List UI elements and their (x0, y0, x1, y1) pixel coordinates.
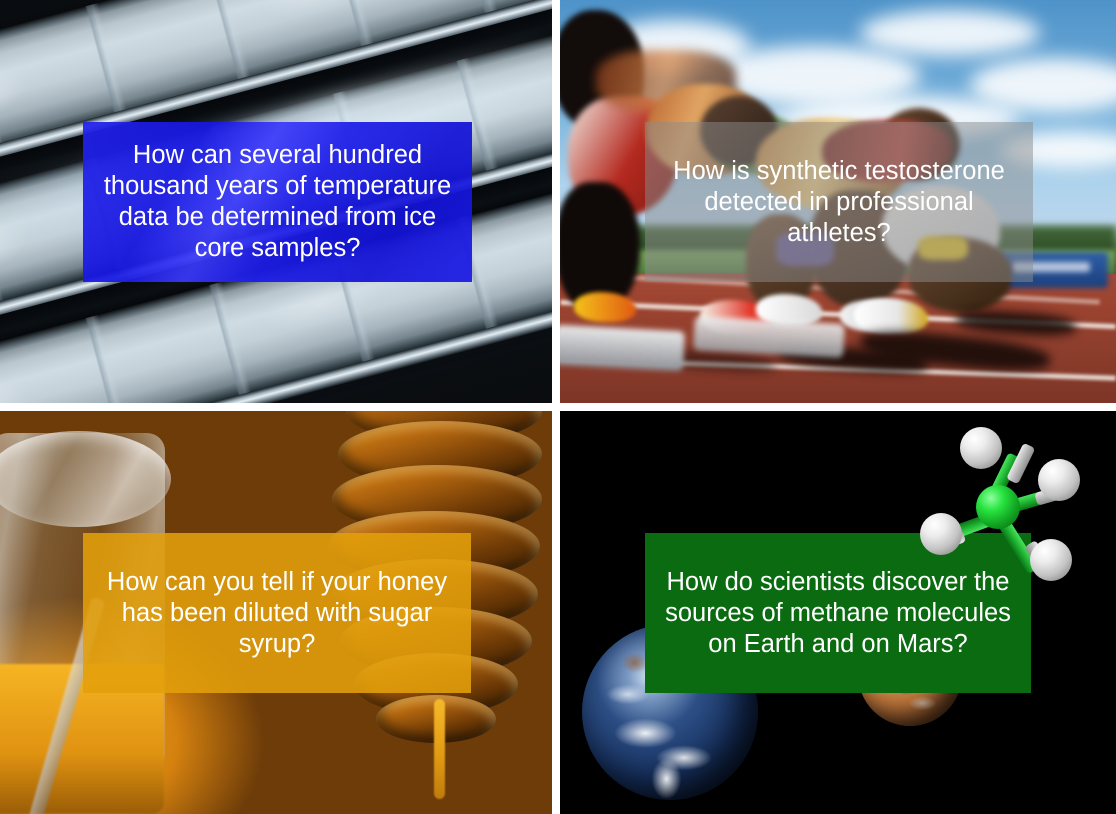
panel-methane[interactable]: How do scientists discover the sources o… (560, 411, 1116, 814)
hydrogen-atom (960, 427, 1002, 469)
panel-ice-core[interactable]: How can several hundred thousand years o… (0, 0, 552, 403)
hydrogen-atom (1030, 539, 1072, 581)
caption-methane-text: How do scientists discover the sources o… (655, 567, 1021, 660)
caption-honey: How can you tell if your honey has been … (83, 533, 471, 693)
panel-honey[interactable]: How can you tell if your honey has been … (0, 411, 552, 814)
caption-ice-core-text: How can several hundred thousand years o… (93, 140, 462, 264)
caption-methane: How do scientists discover the sources o… (645, 533, 1031, 693)
carbon-atom (976, 485, 1020, 529)
caption-testosterone: How is synthetic testosterone detected i… (645, 122, 1033, 282)
hydrogen-atom (1038, 459, 1080, 501)
caption-honey-text: How can you tell if your honey has been … (93, 567, 461, 660)
panel-testosterone[interactable]: How is synthetic testosterone detected i… (560, 0, 1116, 403)
caption-testosterone-text: How is synthetic testosterone detected i… (655, 156, 1023, 249)
caption-ice-core: How can several hundred thousand years o… (83, 122, 472, 282)
hydrogen-atom (920, 513, 962, 555)
image-grid: How can several hundred thousand years o… (0, 0, 1116, 814)
